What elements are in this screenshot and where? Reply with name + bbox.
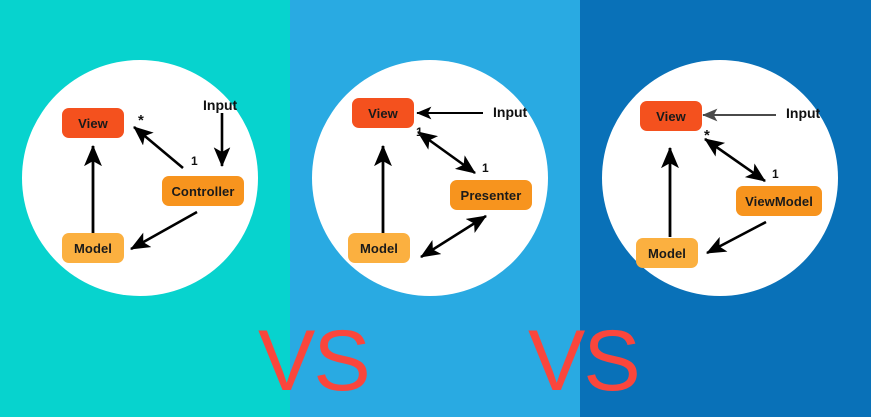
mvvm-node-view[interactable]: View — [640, 101, 702, 131]
mvp-model-presenter-arrow — [421, 216, 486, 257]
mvc-node-controller-label: Controller — [171, 185, 234, 198]
mvp-node-view[interactable]: View — [352, 98, 414, 128]
vs-separator-1: VS — [258, 318, 369, 404]
mvp-node-presenter[interactable]: Presenter — [450, 180, 532, 210]
mvp-node-view-label: View — [368, 107, 398, 120]
mvc-diagram: View Controller Model Input * 1 — [0, 0, 290, 417]
mvc-multiplicity-controller: 1 — [191, 155, 198, 167]
mvvm-node-viewmodel[interactable]: ViewModel — [736, 186, 822, 216]
mvc-controller-to-model-arrow — [131, 212, 197, 249]
mvp-node-model[interactable]: Model — [348, 233, 410, 263]
mvp-multiplicity-view: 1 — [416, 126, 423, 138]
mvc-node-view[interactable]: View — [62, 108, 124, 138]
mvvm-multiplicity-view: * — [704, 128, 710, 143]
mvc-node-model[interactable]: Model — [62, 233, 124, 263]
mvvm-view-viewmodel-arrow — [705, 139, 765, 181]
mvc-node-model-label: Model — [74, 242, 112, 255]
mvvm-multiplicity-viewmodel: 1 — [772, 168, 779, 180]
mvc-multiplicity-view: * — [138, 113, 144, 128]
mvp-view-presenter-arrow — [418, 132, 475, 173]
mvvm-node-model-label: Model — [648, 247, 686, 260]
mvvm-node-model[interactable]: Model — [636, 238, 698, 268]
mvp-input-label: Input — [493, 105, 527, 119]
mvc-arrows — [0, 0, 290, 417]
diagram-canvas: View Controller Model Input * 1 — [0, 0, 871, 417]
mvvm-input-label: Input — [786, 106, 820, 120]
mvc-controller-to-view-arrow — [134, 127, 183, 168]
mvp-node-model-label: Model — [360, 242, 398, 255]
mvvm-node-viewmodel-label: ViewModel — [745, 195, 813, 208]
vs-separator-2: VS — [528, 318, 639, 404]
mvc-node-view-label: View — [78, 117, 108, 130]
mvvm-viewmodel-to-model-arrow — [707, 222, 766, 253]
mvvm-node-view-label: View — [656, 110, 686, 123]
panel-mvc: View Controller Model Input * 1 — [0, 0, 290, 417]
mvp-node-presenter-label: Presenter — [461, 189, 522, 202]
mvc-node-controller[interactable]: Controller — [162, 176, 244, 206]
mvc-input-label: Input — [203, 98, 237, 112]
mvp-multiplicity-presenter: 1 — [482, 162, 489, 174]
